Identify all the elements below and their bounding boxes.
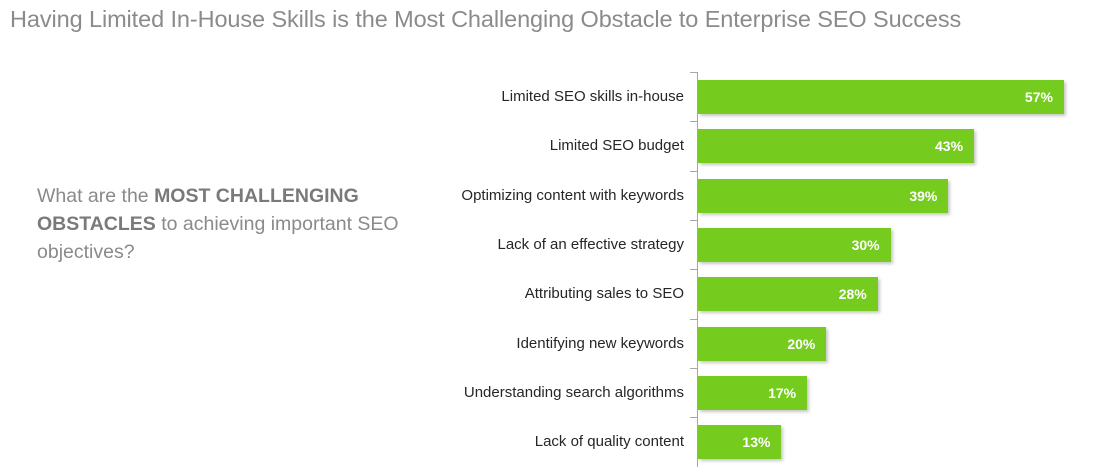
bar[interactable]: 43% [698, 129, 974, 163]
bar-value-label: 43% [935, 129, 963, 163]
bar-row: Limited SEO budget43% [697, 121, 1093, 170]
bar-value-label: 28% [839, 277, 867, 311]
bar[interactable]: 20% [698, 327, 826, 361]
bar-row: Optimizing content with keywords39% [697, 171, 1093, 220]
bar-value-label: 20% [787, 327, 815, 361]
category-label: Lack of quality content [535, 425, 684, 459]
category-label: Attributing sales to SEO [525, 277, 684, 311]
bar-value-label: 13% [742, 425, 770, 459]
bar-row: Lack of quality content13% [697, 417, 1093, 466]
bar[interactable]: 28% [698, 277, 878, 311]
bar[interactable]: 39% [698, 179, 948, 213]
bar-row: Attributing sales to SEO28% [697, 269, 1093, 318]
axis-tick [690, 121, 697, 122]
axis-tick [690, 417, 697, 418]
category-label: Optimizing content with keywords [461, 179, 684, 213]
plot-area: Limited SEO skills in-house57%Limited SE… [697, 72, 1093, 467]
bar[interactable]: 17% [698, 376, 807, 410]
axis-tick [690, 368, 697, 369]
category-label: Limited SEO budget [550, 129, 684, 163]
bar-row: Limited SEO skills in-house57% [697, 72, 1093, 121]
bar-row: Lack of an effective strategy30% [697, 220, 1093, 269]
bar-value-label: 39% [909, 179, 937, 213]
category-label: Lack of an effective strategy [498, 228, 685, 262]
bar[interactable]: 57% [698, 80, 1064, 114]
bar-value-label: 17% [768, 376, 796, 410]
category-label: Limited SEO skills in-house [501, 80, 684, 114]
bar-chart: Limited SEO skills in-house57%Limited SE… [0, 0, 1093, 467]
bar-row: Understanding search algorithms17% [697, 368, 1093, 417]
axis-tick [690, 72, 697, 73]
bar-row: Identifying new keywords20% [697, 319, 1093, 368]
category-label: Understanding search algorithms [464, 376, 684, 410]
bar-value-label: 57% [1025, 80, 1053, 114]
axis-tick [690, 220, 697, 221]
axis-tick [690, 319, 697, 320]
category-label: Identifying new keywords [516, 327, 684, 361]
axis-tick [690, 269, 697, 270]
bar-value-label: 30% [852, 228, 880, 262]
axis-tick [690, 171, 697, 172]
bar[interactable]: 13% [698, 425, 781, 459]
bar[interactable]: 30% [698, 228, 891, 262]
